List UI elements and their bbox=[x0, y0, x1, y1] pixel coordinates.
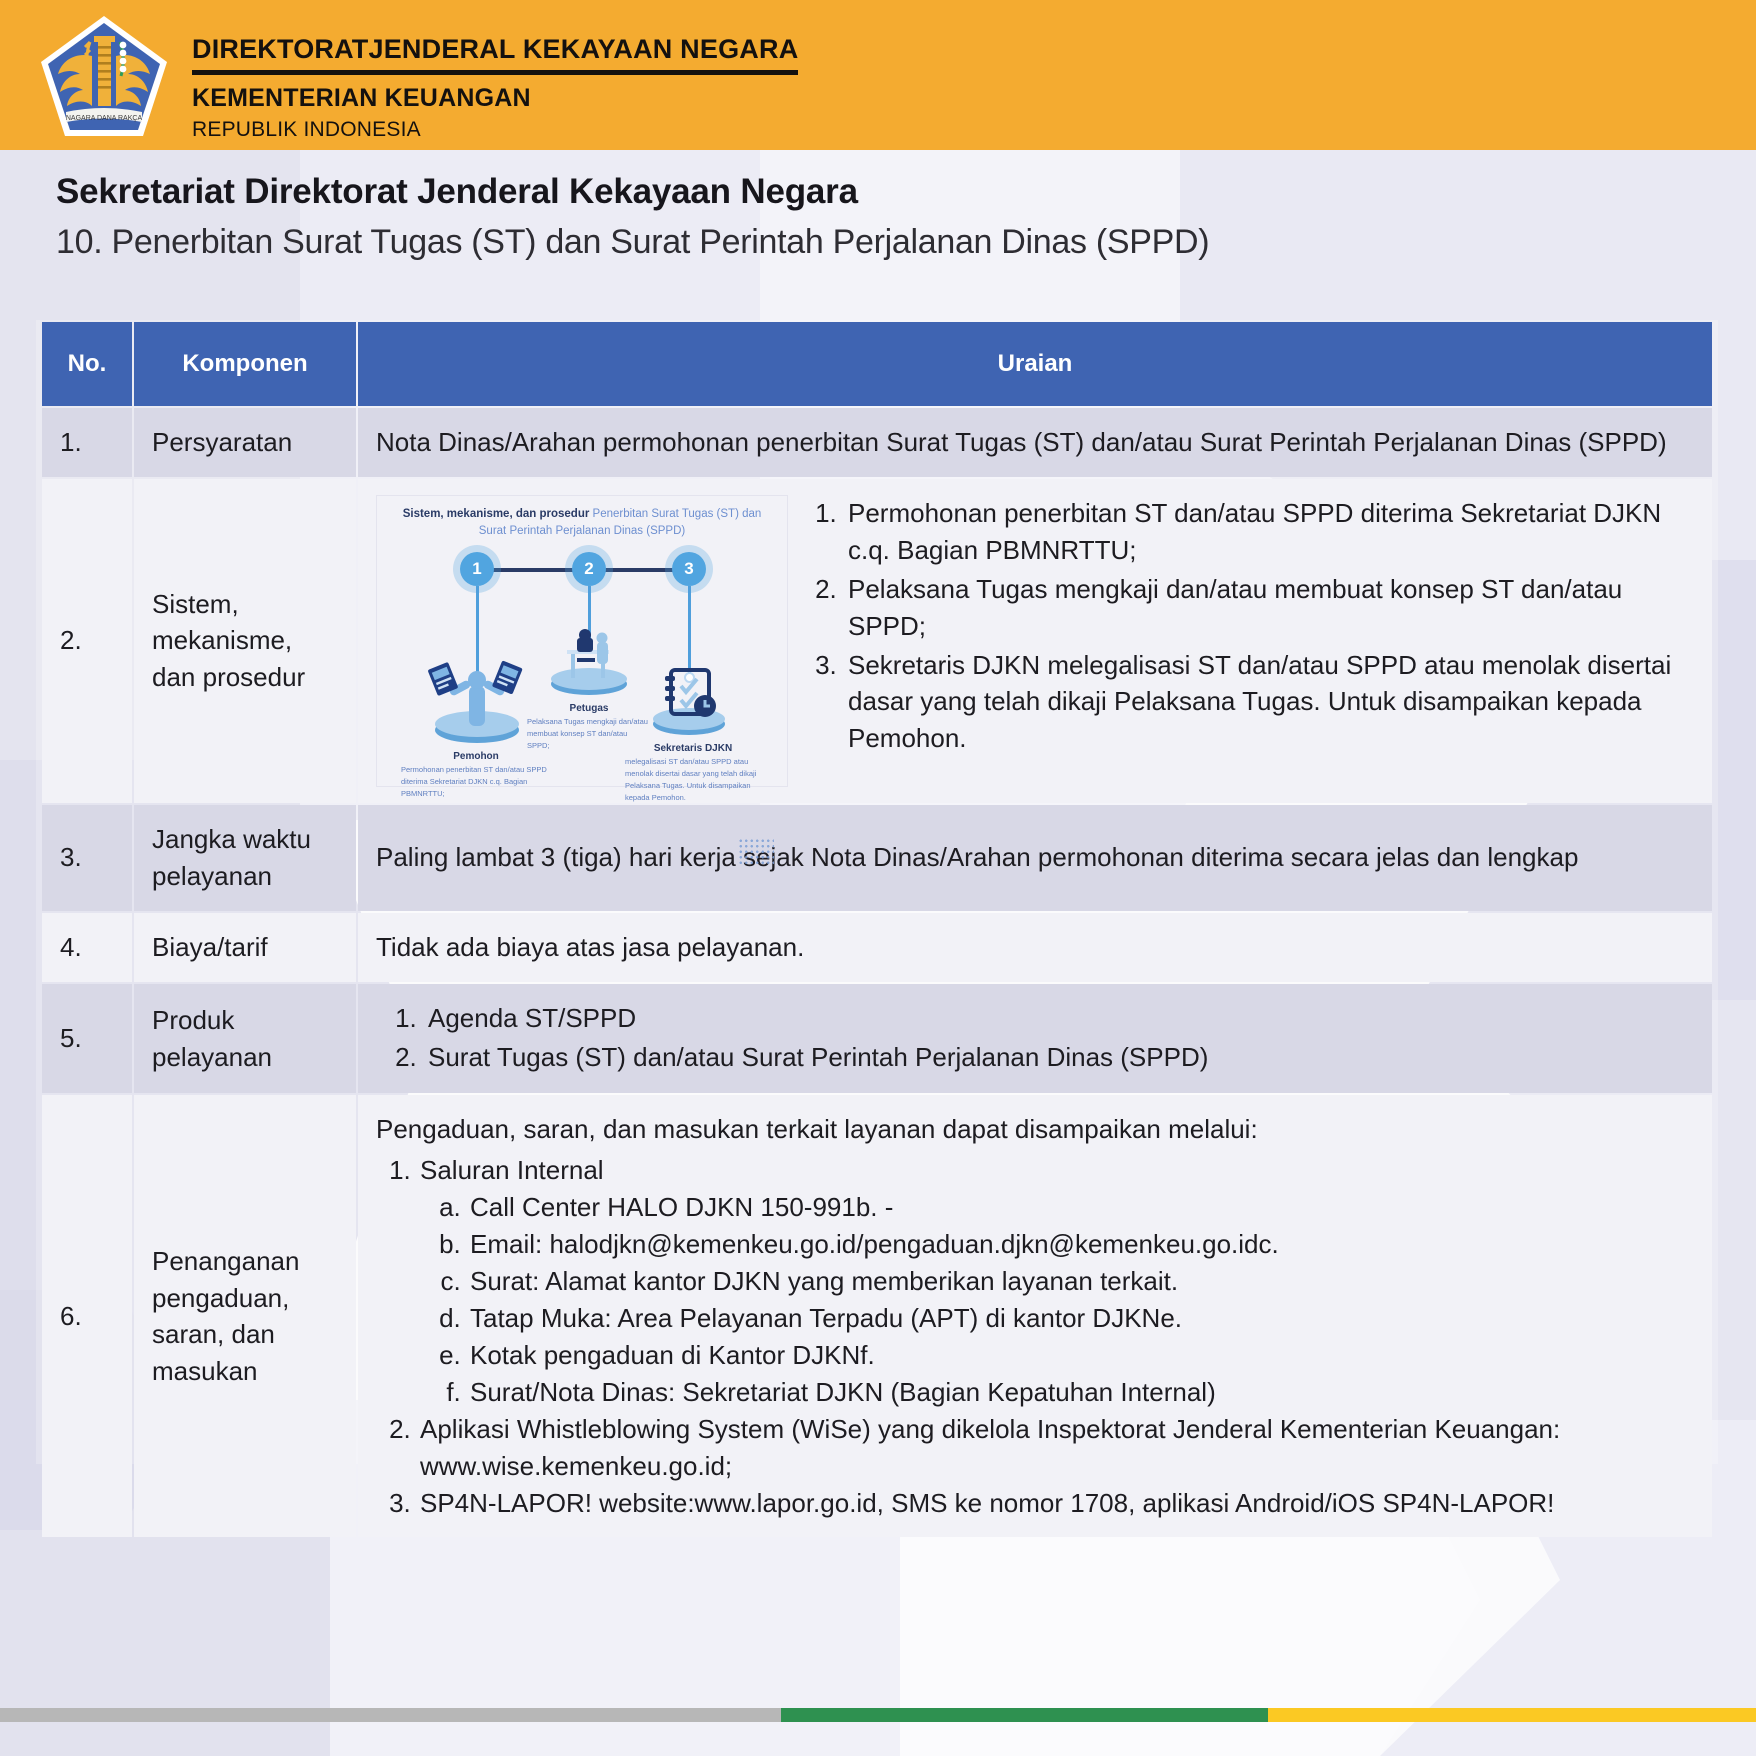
dot-grid-decoration bbox=[738, 838, 774, 866]
row-description: Sistem, mekanisme, dan prosedur Penerbit… bbox=[358, 479, 1712, 803]
row-description: Nota Dinas/Arahan permohonan penerbitan … bbox=[358, 408, 1712, 477]
footer-bar-yellow bbox=[1268, 1708, 1756, 1722]
row-number: 1. bbox=[42, 408, 132, 477]
table-row: 4. Biaya/tarif Tidak ada biaya atas jasa… bbox=[42, 913, 1712, 982]
row-number: 4. bbox=[42, 913, 132, 982]
table-body: 1. Persyaratan Nota Dinas/Arahan permoho… bbox=[42, 408, 1712, 1537]
header-line-directorate: DIREKTORATJENDERAL KEKAYAAN NEGARA bbox=[192, 34, 798, 75]
procedure-step-list: Permohonan penerbitan ST dan/atau SPPD d… bbox=[844, 495, 1694, 759]
table-head: No. Komponen Uraian bbox=[42, 322, 1712, 406]
logo-motto-text: NAGARA DANA RAKÇA bbox=[66, 115, 143, 122]
diagram-node-3-caption: Sekretaris DJKN bbox=[627, 742, 759, 756]
step-badge-2: 2 bbox=[572, 552, 606, 586]
complaint-channel-list: Saluran Internal Call Center HALO DJKN 1… bbox=[418, 1152, 1694, 1521]
procedure-step: Sekretaris DJKN melegalisasi ST dan/atau… bbox=[844, 647, 1694, 758]
title-block: Sekretariat Direktorat Jenderal Kekayaan… bbox=[56, 172, 1209, 262]
complaint-channel-internal: Saluran Internal Call Center HALO DJKN 1… bbox=[418, 1152, 1694, 1410]
column-header-komponen: Komponen bbox=[134, 322, 356, 406]
row-number: 3. bbox=[42, 805, 132, 911]
table-header-row: No. Komponen Uraian bbox=[42, 322, 1712, 406]
header-line-country: REPUBLIK INDONESIA bbox=[192, 118, 798, 142]
footer-color-bars bbox=[0, 1708, 1756, 1722]
row-number: 2. bbox=[42, 479, 132, 803]
diagram-node-1-caption: Pemohon bbox=[411, 750, 541, 764]
complaint-channel-lapor: SP4N-LAPOR! website:www.lapor.go.id, SMS… bbox=[418, 1485, 1694, 1522]
table-row: 2. Sistem, mekanisme, dan prosedur Siste… bbox=[42, 479, 1712, 803]
service-standard-table: No. Komponen Uraian 1. Persyaratan Nota … bbox=[40, 320, 1714, 1539]
table-row: 1. Persyaratan Nota Dinas/Arahan permoho… bbox=[42, 408, 1712, 477]
procedure-step: Pelaksana Tugas mengkaji dan/atau membua… bbox=[844, 571, 1694, 645]
row-number: 5. bbox=[42, 984, 132, 1094]
table: No. Komponen Uraian 1. Persyaratan Nota … bbox=[40, 320, 1714, 1539]
row-component: Jangka waktu pelayanan bbox=[134, 805, 356, 911]
table-row: 5. Produk pelayanan Agenda ST/SPPD Surat… bbox=[42, 984, 1712, 1094]
internal-channel-item: Surat: Alamat kantor DJKN yang memberika… bbox=[468, 1263, 1694, 1300]
row-component: Sistem, mekanisme, dan prosedur bbox=[134, 479, 356, 803]
product-list: Agenda ST/SPPD Surat Tugas (ST) dan/atau… bbox=[424, 1000, 1694, 1076]
diagram-node-3-body: melegalisasi ST dan/atau SPPD atau menol… bbox=[625, 756, 761, 804]
procedure-step: Permohonan penerbitan ST dan/atau SPPD d… bbox=[844, 495, 1694, 569]
footer-bar-gray bbox=[0, 1708, 781, 1722]
table-row: 3. Jangka waktu pelayanan Paling lambat … bbox=[42, 805, 1712, 911]
row-number: 6. bbox=[42, 1095, 132, 1537]
row-description: Tidak ada biaya atas jasa pelayanan. bbox=[358, 913, 1712, 982]
diagram-title-bold: Sistem, mekanisme, dan prosedur bbox=[403, 508, 590, 520]
complaint-channel-wise: Aplikasi Whistleblowing System (WiSe) ya… bbox=[418, 1411, 1694, 1485]
diagram-nodes: 1 2 3 bbox=[377, 552, 787, 788]
internal-channel-item: Tatap Muka: Area Pelayanan Terpadu (APT)… bbox=[468, 1300, 1694, 1337]
checklist-clock-illustration-icon bbox=[641, 662, 737, 740]
step-badge-1: 1 bbox=[460, 552, 494, 586]
product-item: Agenda ST/SPPD bbox=[424, 1000, 1694, 1037]
page-header: NAGARA DANA RAKÇA DIREKTORATJENDERAL KEK… bbox=[0, 0, 1756, 150]
step-badge-3: 3 bbox=[672, 552, 706, 586]
internal-channel-sublist: Call Center HALO DJKN 150-991b. - Email:… bbox=[468, 1189, 1694, 1410]
applicant-illustration-icon bbox=[421, 658, 533, 744]
table-row: 6. Penanganan pengaduan, saran, dan masu… bbox=[42, 1095, 1712, 1537]
row-component: Biaya/tarif bbox=[134, 913, 356, 982]
row-component: Produk pelayanan bbox=[134, 984, 356, 1094]
column-header-no: No. bbox=[42, 322, 132, 406]
diagram-node-2-caption: Petugas bbox=[529, 702, 649, 716]
row-description: Pengaduan, saran, dan masukan terkait la… bbox=[358, 1095, 1712, 1537]
process-flow-diagram: Sistem, mekanisme, dan prosedur Penerbit… bbox=[376, 495, 788, 787]
row-description: Agenda ST/SPPD Surat Tugas (ST) dan/atau… bbox=[358, 984, 1712, 1094]
internal-channel-item: Kotak pengaduan di Kantor DJKNf. bbox=[468, 1337, 1694, 1374]
officer-illustration-icon bbox=[537, 628, 641, 696]
internal-channel-item: Email: halodjkn@kemenkeu.go.id/pengaduan… bbox=[468, 1226, 1694, 1263]
complaint-channel-internal-label: Saluran Internal bbox=[420, 1155, 604, 1185]
internal-channel-item: Surat/Nota Dinas: Sekretariat DJKN (Bagi… bbox=[468, 1374, 1694, 1411]
row-component: Persyaratan bbox=[134, 408, 356, 477]
row-component: Penanganan pengaduan, saran, dan masukan bbox=[134, 1095, 356, 1537]
diagram-node-1-body: Permohonan penerbitan ST dan/atau SPPD d… bbox=[401, 764, 549, 800]
header-line-ministry: KEMENTERIAN KEUANGAN bbox=[192, 84, 798, 113]
product-item: Surat Tugas (ST) dan/atau Surat Perintah… bbox=[424, 1039, 1694, 1076]
column-header-uraian: Uraian bbox=[358, 322, 1712, 406]
footer-bar-green bbox=[781, 1708, 1267, 1722]
page-title: Sekretariat Direktorat Jenderal Kekayaan… bbox=[56, 172, 1209, 212]
row-description: Paling lambat 3 (tiga) hari kerja sejak … bbox=[358, 805, 1712, 911]
header-text-block: DIREKTORATJENDERAL KEKAYAAN NEGARA KEMEN… bbox=[192, 34, 798, 142]
complaint-intro: Pengaduan, saran, dan masukan terkait la… bbox=[376, 1111, 1694, 1148]
page-subtitle: 10. Penerbitan Surat Tugas (ST) dan Sura… bbox=[56, 223, 1209, 262]
document-page: NAGARA DANA RAKÇA DIREKTORATJENDERAL KEK… bbox=[0, 0, 1756, 1756]
internal-channel-item: Call Center HALO DJKN 150-991b. - bbox=[468, 1189, 1694, 1226]
garuda-emblem-icon: NAGARA DANA RAKÇA bbox=[36, 12, 172, 140]
diagram-title: Sistem, mekanisme, dan prosedur Penerbit… bbox=[377, 496, 787, 539]
ministry-logo: NAGARA DANA RAKÇA bbox=[36, 12, 172, 140]
